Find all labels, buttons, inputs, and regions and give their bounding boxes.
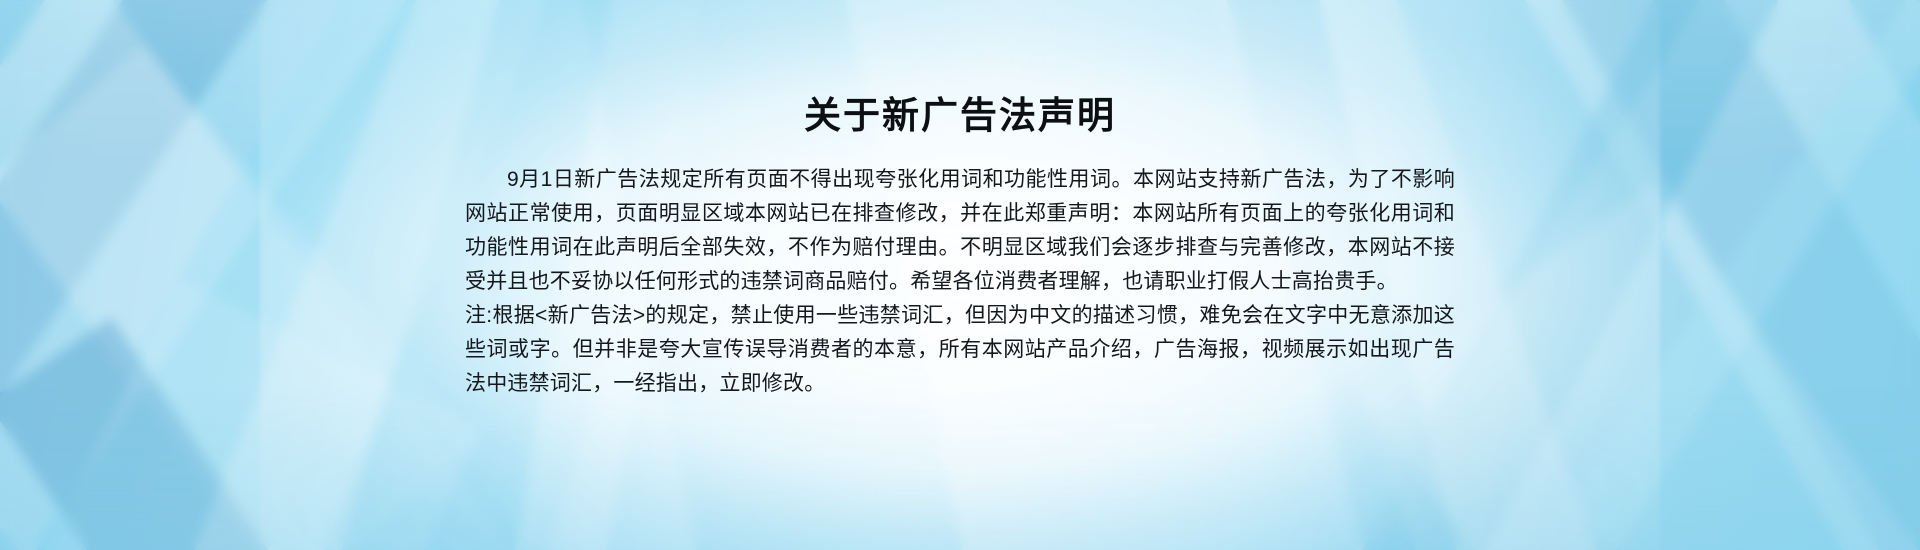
statement-paragraph-note: 注:根据<新广告法>的规定，禁止使用一些违禁词汇，但因为中文的描述习惯，难免会在… — [465, 299, 1455, 401]
advertising-law-banner: 关于新广告法声明 9月1日新广告法规定所有页面不得出现夸张化用词和功能性用词。本… — [0, 0, 1920, 550]
statement-content: 关于新广告法声明 9月1日新广告法规定所有页面不得出现夸张化用词和功能性用词。本… — [465, 0, 1455, 550]
statement-body: 9月1日新广告法规定所有页面不得出现夸张化用词和功能性用词。本网站支持新广告法，… — [465, 163, 1455, 401]
page-title: 关于新广告法声明 — [465, 96, 1455, 137]
statement-paragraph-main: 9月1日新广告法规定所有页面不得出现夸张化用词和功能性用词。本网站支持新广告法，… — [465, 163, 1455, 299]
